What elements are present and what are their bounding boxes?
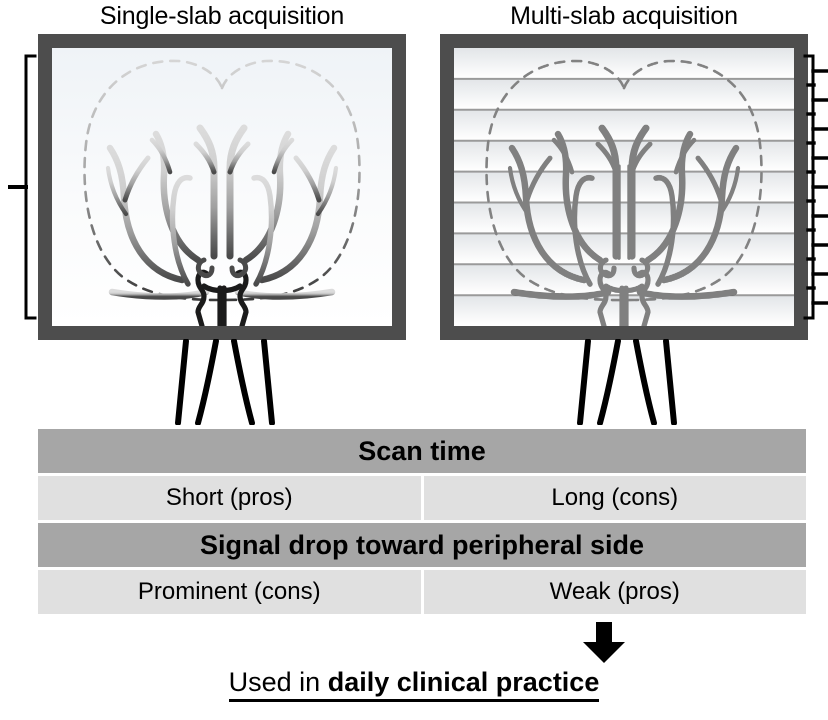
table-header-scan-time: Scan time — [38, 429, 806, 473]
canvas-single-slab — [52, 48, 392, 326]
table-row: Prominent (cons) Weak (pros) — [38, 570, 806, 614]
table-row: Short (pros) Long (cons) — [38, 476, 806, 520]
comparison-table: Scan time Short (pros) Long (cons) Signa… — [38, 429, 806, 614]
image-panel-multi-slab — [440, 34, 808, 340]
table-header-signal-drop: Signal drop toward peripheral side — [38, 523, 806, 567]
table-cell-signal-drop-multi: Weak (pros) — [424, 570, 807, 614]
table-cell-signal-drop-single: Prominent (cons) — [38, 570, 421, 614]
table-cell-scan-time-multi: Long (cons) — [424, 476, 807, 520]
bracket-single-slab — [8, 54, 38, 320]
panel-title-left: Single-slab acquisition — [38, 2, 406, 31]
down-arrow-icon — [582, 622, 626, 664]
conclusion-text: Used in daily clinical practice — [0, 667, 828, 702]
conclusion-prefix: Used in — [229, 667, 328, 697]
canvas-multi-slab — [454, 48, 794, 326]
table-row: Scan time — [38, 429, 806, 473]
neck-vessels-right — [542, 339, 712, 425]
conclusion-emphasis: daily clinical practice — [328, 667, 600, 697]
table-row: Signal drop toward peripheral side — [38, 523, 806, 567]
neck-vessels-left — [140, 339, 310, 425]
image-panel-single-slab — [38, 34, 406, 340]
bracket-multi-slab — [800, 54, 828, 320]
table-cell-scan-time-single: Short (pros) — [38, 476, 421, 520]
slab-bands — [454, 48, 794, 326]
panel-title-right: Multi-slab acquisition — [440, 2, 808, 31]
